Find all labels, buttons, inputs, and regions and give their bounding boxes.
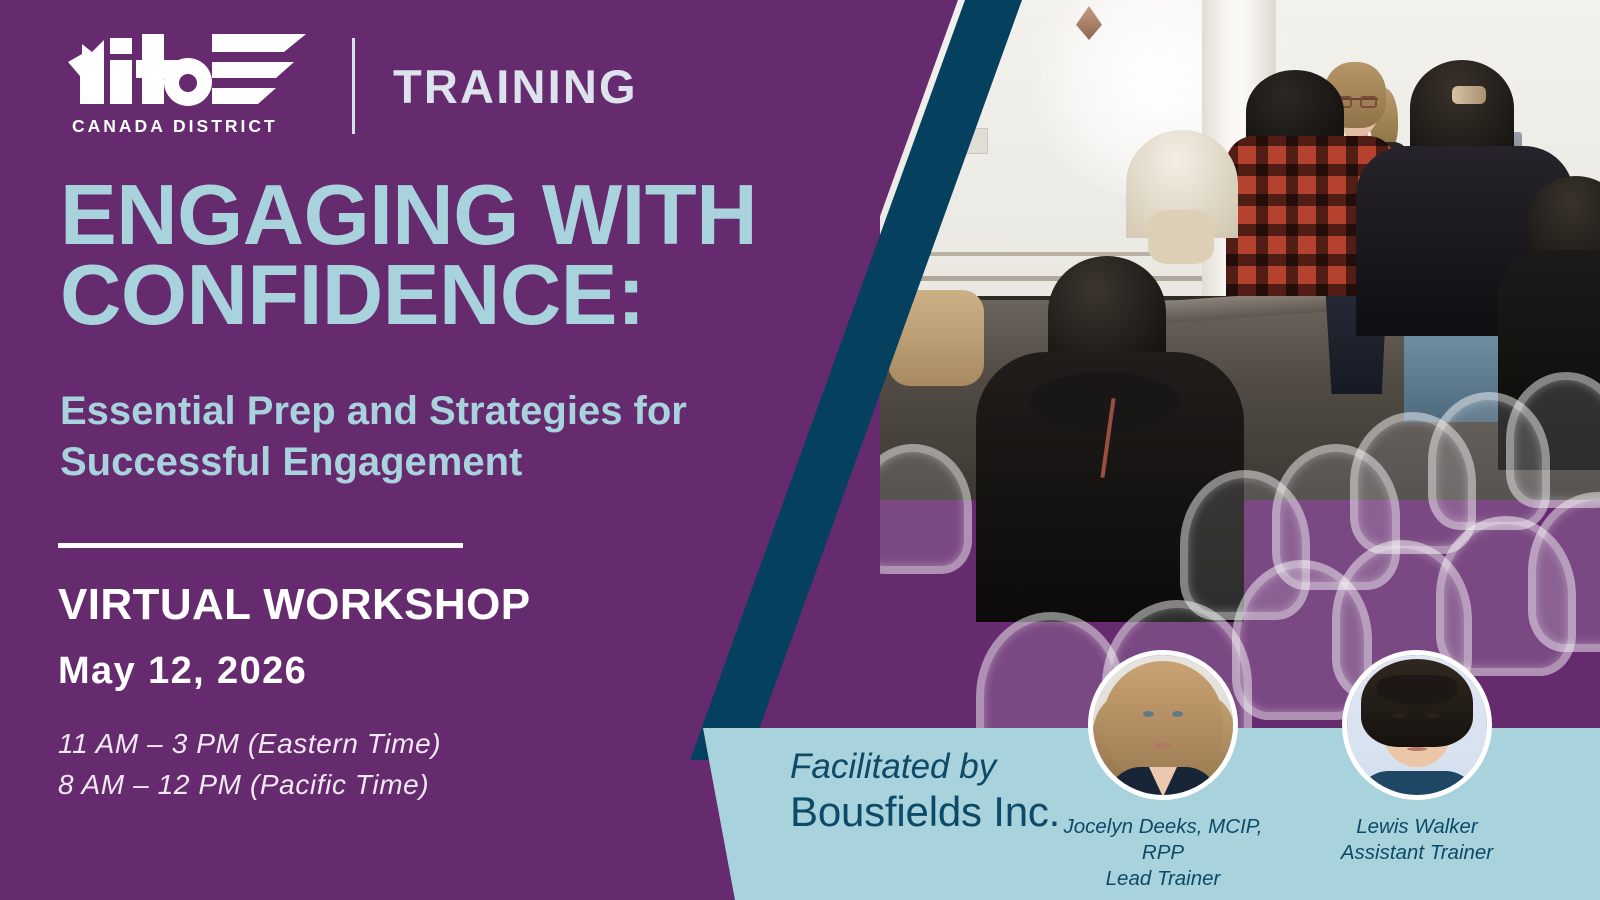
brand-bar: CANADA DISTRICT TRAINING: [62, 32, 638, 140]
trainer-role: Assistant Trainer: [1314, 840, 1520, 866]
facilitator-block: Facilitated by Bousfields Inc.: [790, 746, 1060, 838]
trainer-card: Jocelyn Deeks, MCIP, RPP Lead Trainer: [1060, 650, 1266, 891]
trainer-role: Lead Trainer: [1060, 866, 1266, 892]
trainer-caption: Jocelyn Deeks, MCIP, RPP Lead Trainer: [1060, 814, 1266, 891]
title-line-1: ENGAGING WITH: [60, 176, 900, 256]
page-title: ENGAGING WITH CONFIDENCE:: [60, 176, 900, 336]
event-time-eastern: 11 AM – 3 PM (Eastern Time): [58, 724, 441, 765]
facilitator-organization: Bousfields Inc.: [790, 787, 1060, 837]
training-promo-poster: CANADA DISTRICT TRAINING ENGAGING WITH C…: [0, 0, 1600, 900]
event-times: 11 AM – 3 PM (Eastern Time) 8 AM – 12 PM…: [58, 724, 441, 806]
section-label: TRAINING: [393, 59, 638, 114]
event-date: May 12, 2026: [58, 650, 307, 693]
trainer-name: Jocelyn Deeks, MCIP, RPP: [1060, 814, 1266, 866]
page-subtitle: Essential Prep and Strategies for Succes…: [60, 386, 860, 488]
ite-logo-mark-icon: [62, 32, 312, 110]
trainer-caption: Lewis Walker Assistant Trainer: [1314, 814, 1520, 866]
subtitle-line-2: Successful Engagement: [60, 437, 860, 488]
jocelyn-deeks-headshot: [1093, 655, 1233, 795]
ite-logo: CANADA DISTRICT: [62, 32, 312, 140]
lewis-walker-headshot: [1347, 655, 1487, 795]
avatar: [1088, 650, 1238, 800]
brand-divider: [352, 38, 355, 134]
event-format: VIRTUAL WORKSHOP: [58, 580, 530, 630]
trainer-name: Lewis Walker: [1314, 814, 1520, 840]
trainer-card: Lewis Walker Assistant Trainer: [1314, 650, 1520, 891]
logo-subtitle: CANADA DISTRICT: [72, 116, 278, 137]
event-time-pacific: 8 AM – 12 PM (Pacific Time): [58, 765, 441, 806]
title-line-2: CONFIDENCE:: [60, 256, 900, 336]
facilitated-by-label: Facilitated by: [790, 746, 1060, 787]
trainer-list: Jocelyn Deeks, MCIP, RPP Lead Trainer: [1060, 650, 1560, 891]
divider-rule: [58, 543, 463, 548]
avatar: [1342, 650, 1492, 800]
subtitle-line-1: Essential Prep and Strategies for: [60, 386, 860, 437]
